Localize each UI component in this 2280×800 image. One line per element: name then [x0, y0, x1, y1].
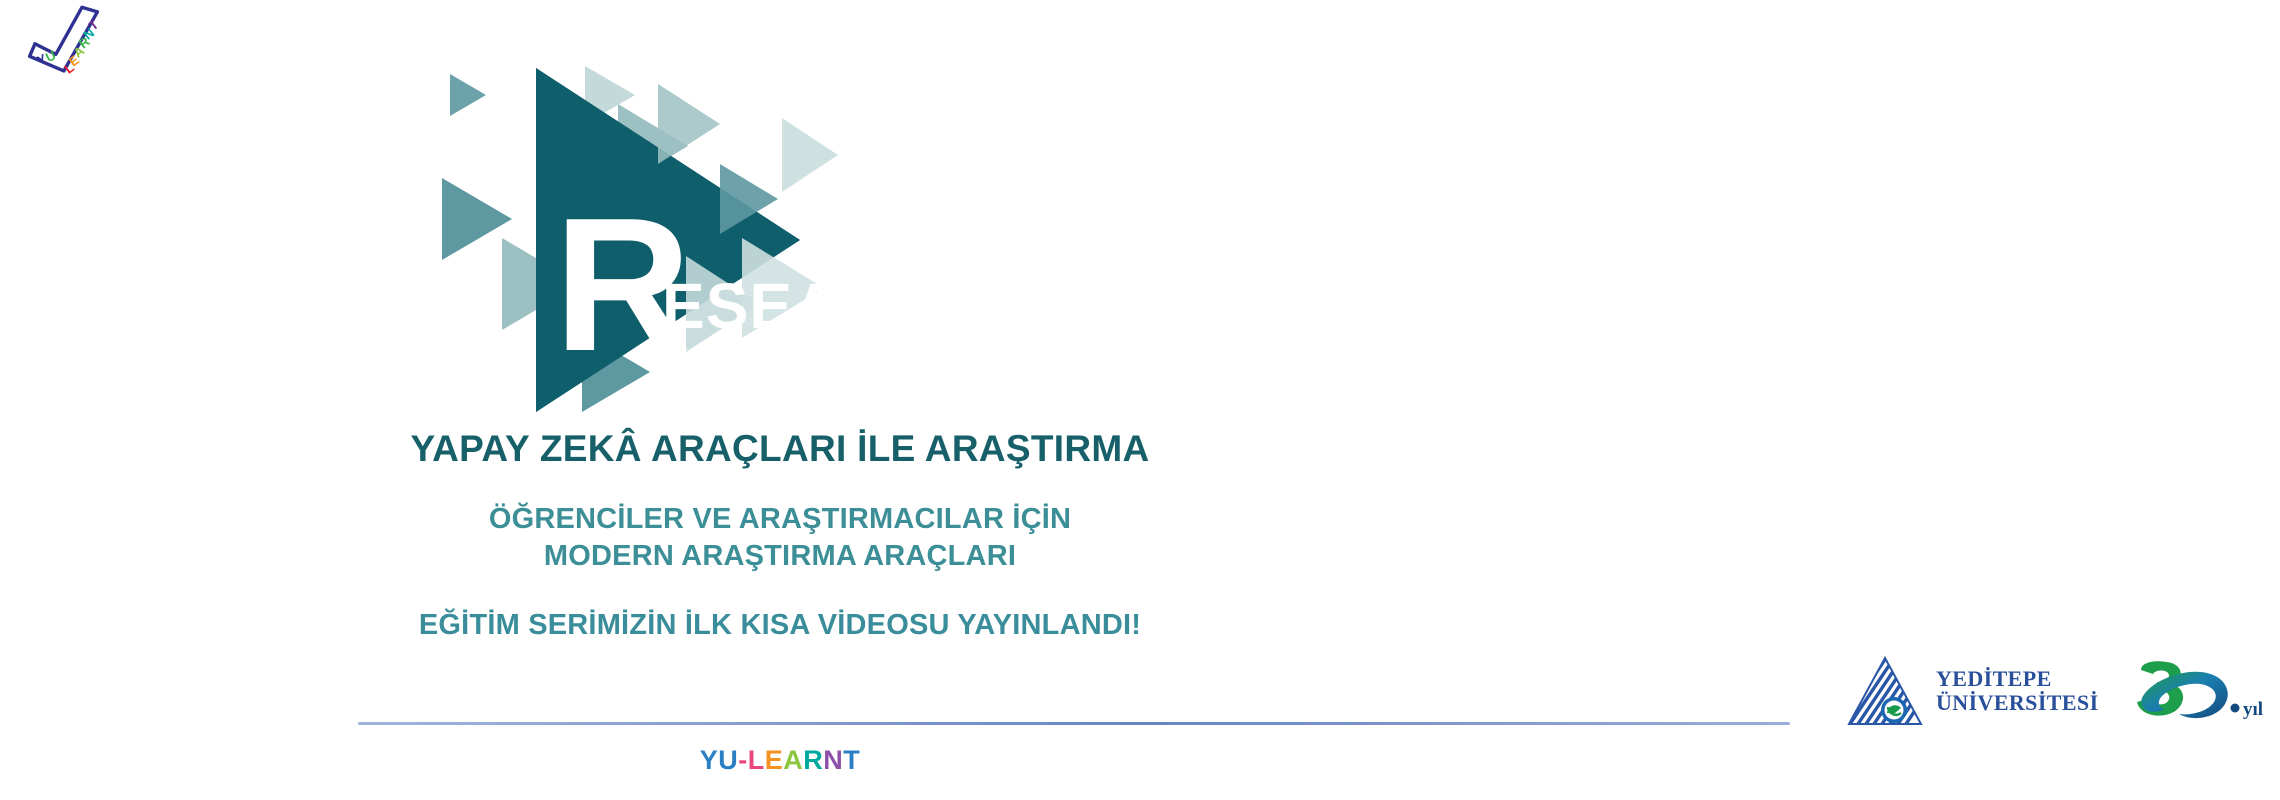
wordmark-letter-4: E: [765, 745, 784, 775]
wordmark-letter-7: N: [823, 745, 843, 775]
research-hero-graphic: R ESEARCH: [430, 60, 1080, 420]
yeditepe-triangle-emblem-icon: [1846, 655, 1924, 727]
yu-learnt-check-icon: Y U L E A R N T: [14, 2, 134, 82]
university-name-line-1: YEDİTEPE: [1936, 667, 2099, 691]
university-branding-block: YEDİTEPE ÜNİVERSİTESİ yıl: [1846, 655, 2275, 727]
wordmark-letter-2: -: [738, 745, 748, 775]
accent-triangle-10: [782, 118, 838, 192]
subtitle-line-2: MODERN ARAŞTIRMA ARAÇLARI: [0, 538, 1560, 575]
footer-divider: [358, 722, 1790, 725]
accent-triangle-7: [658, 84, 720, 164]
wordmark-letter-1: U: [718, 745, 738, 775]
brand-logo-yu-learnt-check[interactable]: Y U L E A R N T: [14, 2, 134, 82]
yeditepe-wordmark: YEDİTEPE ÜNİVERSİTESİ: [1936, 667, 2099, 715]
page-title: YAPAY ZEKÂ ARAÇLARI İLE ARAŞTIRMA: [0, 430, 1560, 469]
accent-triangle-1: [450, 74, 486, 116]
announcement-text: EĞİTİM SERİMİZİN İLK KISA VİDEOSU YAYINL…: [0, 609, 1560, 642]
wordmark-letter-5: A: [783, 745, 803, 775]
subtitle-group: ÖĞRENCİLER VE ARAŞTIRMACILAR İÇİN MODERN…: [0, 501, 1560, 575]
wordmark-letter-8: T: [843, 745, 860, 775]
subtitle-line-1: ÖĞRENCİLER VE ARAŞTIRMACILAR İÇİN: [0, 501, 1560, 538]
footer-wordmark-yu-learnt: YU-LEARNT: [0, 745, 1560, 776]
research-rest-letters: ESEARCH: [662, 270, 982, 342]
accent-triangle-4: [442, 178, 512, 260]
wordmark-letter-0: Y: [700, 745, 719, 775]
thirtieth-anniversary-logo: yıl: [2127, 658, 2275, 724]
anniversary-suffix-label: yıl: [2243, 699, 2263, 720]
university-name-line-2: ÜNİVERSİTESİ: [1936, 691, 2099, 715]
wordmark-letter-6: R: [803, 745, 823, 775]
wordmark-letter-3: L: [748, 745, 765, 775]
headline-block: YAPAY ZEKÂ ARAÇLARI İLE ARAŞTIRMA ÖĞRENC…: [0, 430, 1560, 642]
